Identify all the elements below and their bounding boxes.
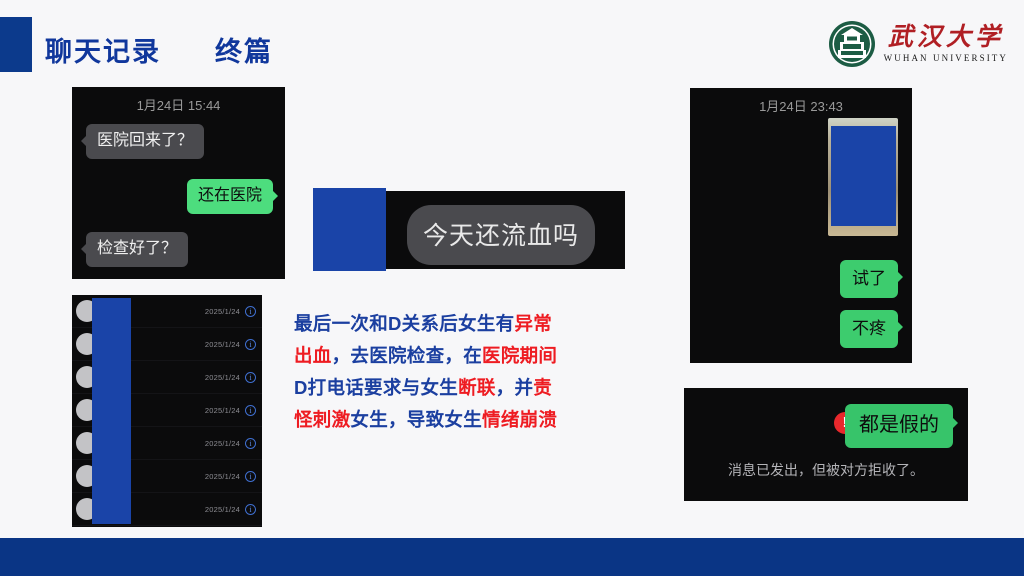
summary-text-line: 怪刺激女生，导致女生情绪崩溃 xyxy=(294,404,614,436)
chat-bubble-text: 今天还流血吗 xyxy=(407,205,595,265)
chat-screenshot-hospital: 1月24日 15:44 医院回来了？ 还在医院 检查好了？ xyxy=(72,87,285,279)
call-date: 2025/1/24 xyxy=(205,373,240,382)
university-logo: 武汉大学 WUHAN UNIVERSITY xyxy=(828,18,1008,70)
info-icon[interactable]: i xyxy=(245,372,256,383)
redaction-block-photo xyxy=(831,126,896,226)
page-title: 聊天记录 xyxy=(45,30,161,69)
summary-plain: ，并 xyxy=(496,377,534,398)
chat-bubble-text: 还在医院 xyxy=(187,179,273,214)
chat-timestamp: 1月24日 15:44 xyxy=(72,95,285,114)
summary-plain: 女生，导致女生 xyxy=(350,409,482,430)
call-date: 2025/1/24 xyxy=(205,307,240,316)
footer-bar xyxy=(0,538,1024,576)
chat-bubble-outgoing: 试了 xyxy=(840,260,898,298)
summary-text: 最后一次和D关系后女生有异常出血，去医院检查，在医院期间D打电话要求与女生断联，… xyxy=(294,308,614,436)
logo-name-cn: 武汉大学 xyxy=(888,25,1004,51)
chat-bubble-text: 试了 xyxy=(840,260,898,298)
chat-timestamp: 1月24日 23:43 xyxy=(690,96,912,115)
summary-plain: 最后一次和D关系后女生有 xyxy=(294,313,514,334)
call-date: 2025/1/24 xyxy=(205,505,240,514)
call-date: 2025/1/24 xyxy=(205,406,240,415)
info-icon[interactable]: i xyxy=(245,306,256,317)
page-subtitle: 终篇 xyxy=(215,30,273,69)
wuhan-university-seal-icon xyxy=(828,20,876,68)
summary-highlight: 责 xyxy=(533,377,552,398)
slide-root: 聊天记录 终篇 武汉大学 WUHAN UNIVERSITY 1月24日 15:4… xyxy=(0,0,1024,576)
info-icon[interactable]: i xyxy=(245,438,256,449)
chat-bubble-outgoing: 还在医院 xyxy=(187,179,273,214)
redaction-block-call-log xyxy=(92,298,131,524)
logo-name-en: WUHAN UNIVERSITY xyxy=(884,53,1008,63)
summary-text-line: 最后一次和D关系后女生有异常 xyxy=(294,308,614,340)
info-icon[interactable]: i xyxy=(245,405,256,416)
summary-highlight: 怪刺激 xyxy=(294,409,350,430)
call-date: 2025/1/24 xyxy=(205,439,240,448)
summary-plain: ，去医院检查，在 xyxy=(332,345,482,366)
redaction-block-middle xyxy=(313,188,386,271)
call-date: 2025/1/24 xyxy=(205,340,240,349)
chat-bubble-outgoing: 都是假的 xyxy=(845,404,953,448)
chat-screenshot-rejected: ! 都是假的 消息已发出，但被对方拒收了。 xyxy=(684,388,968,501)
chat-bubble-outgoing: 不疼 xyxy=(840,310,898,348)
summary-highlight: 情绪崩溃 xyxy=(482,409,557,430)
chat-bubble-incoming: 检查好了？ xyxy=(86,232,188,267)
chat-bubble-text: 不疼 xyxy=(840,310,898,348)
logo-wordmark: 武汉大学 WUHAN UNIVERSITY xyxy=(884,25,1008,63)
summary-highlight: 异常 xyxy=(514,313,552,334)
rejected-note: 消息已发出，但被对方拒收了。 xyxy=(684,460,968,480)
summary-highlight: 断联 xyxy=(458,377,496,398)
summary-text-line: 出血，去医院检查，在医院期间 xyxy=(294,340,614,372)
chat-screenshot-bleeding: 今天还流血吗 xyxy=(385,191,625,269)
call-date: 2025/1/24 xyxy=(205,472,240,481)
chat-bubble-incoming: 医院回来了？ xyxy=(86,124,204,159)
chat-screenshot-photo: 1月24日 23:43 试了 不疼 xyxy=(690,88,912,363)
chat-bubble-text: 都是假的 xyxy=(845,404,953,448)
info-icon[interactable]: i xyxy=(245,339,256,350)
summary-highlight: 出血 xyxy=(294,345,332,366)
chat-bubble-text: 医院回来了？ xyxy=(86,124,204,159)
summary-text-line: D打电话要求与女生断联，并责 xyxy=(294,372,614,404)
info-icon[interactable]: i xyxy=(245,504,256,515)
chat-bubble-text: 检查好了？ xyxy=(86,232,188,267)
info-icon[interactable]: i xyxy=(245,471,256,482)
summary-plain: D打电话要求与女生 xyxy=(294,377,458,398)
summary-highlight: 医院期间 xyxy=(482,345,557,366)
header-accent-block xyxy=(0,17,32,72)
